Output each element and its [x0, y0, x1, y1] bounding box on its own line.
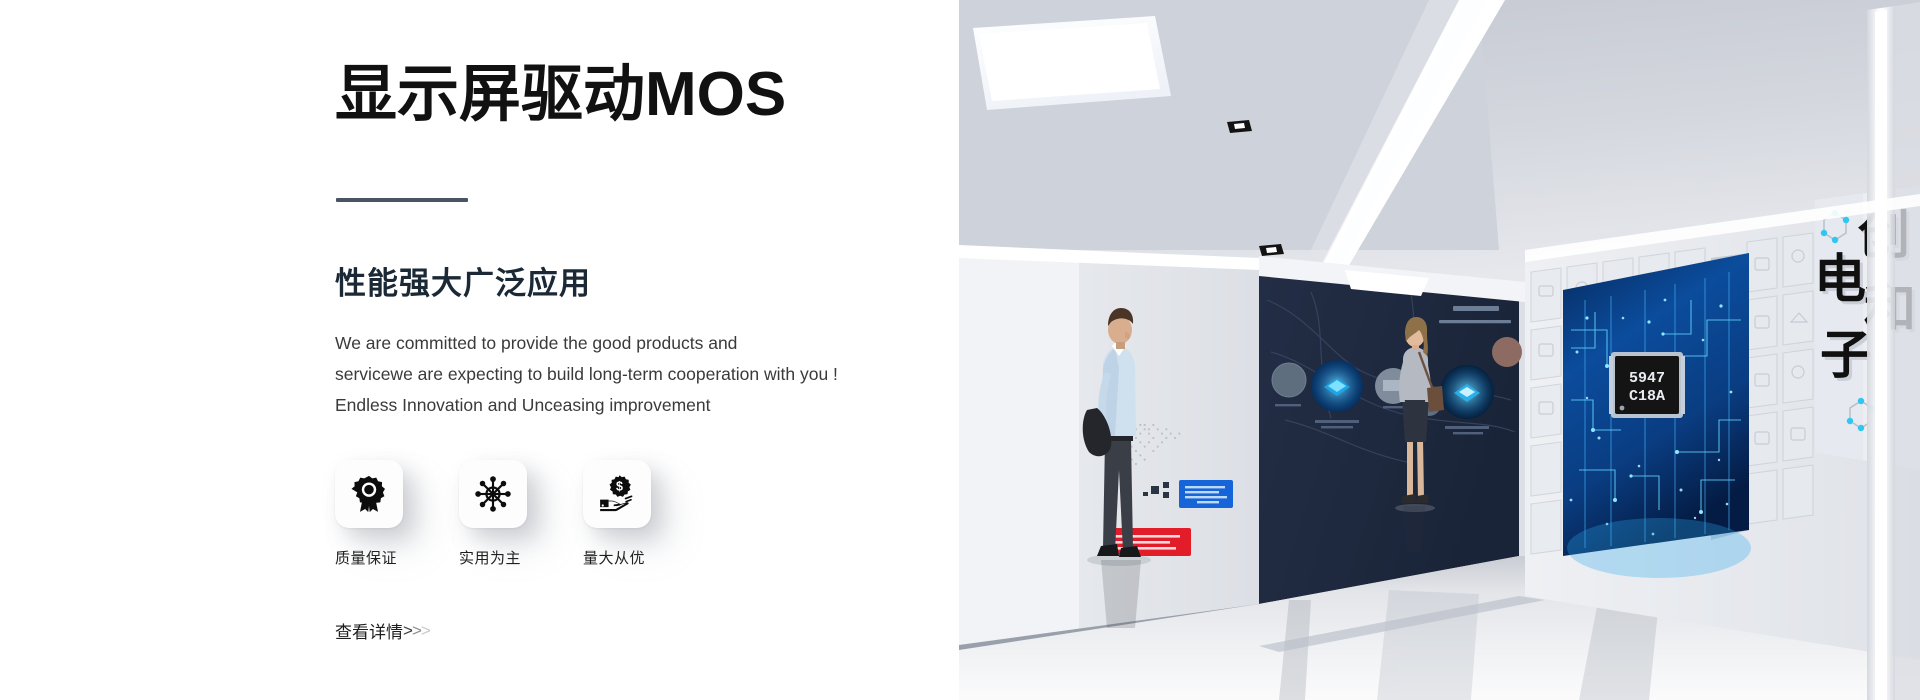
svg-text:$: $: [616, 480, 623, 494]
page-title: 显示屏驱动MOS: [335, 62, 786, 127]
title-divider: [336, 198, 468, 202]
left-text-panel: 显示屏驱动MOS 性能强大广泛应用 We are committed to pr…: [0, 0, 959, 700]
feature-badge-tile[interactable]: $: [583, 460, 651, 528]
chevron-right-icon: >: [403, 621, 412, 641]
screen-chip-line-2: C18A: [1629, 388, 1665, 405]
screen-chip-line-1: 5947: [1629, 370, 1665, 387]
feature-item-practical[interactable]: 实用为主: [459, 460, 527, 568]
feature-badge-list: 质量保证: [335, 460, 651, 568]
cta-label: 查看详情: [335, 618, 403, 643]
description-line: servicewe are expecting to build long-te…: [335, 359, 895, 390]
hero-description: We are committed to provide the good pro…: [335, 328, 895, 421]
feature-item-quality[interactable]: 质量保证: [335, 460, 403, 568]
feature-label: 质量保证: [335, 547, 403, 568]
showroom-photo: 5947 C18A: [959, 0, 1920, 700]
network-hub-icon: [473, 474, 513, 514]
wall-sign-char: 子: [1820, 327, 1872, 385]
chevron-right-icon: >: [412, 621, 421, 641]
hero-subtitle: 性能强大广泛应用: [335, 258, 591, 303]
wall-sign-char: 电: [1814, 251, 1866, 309]
hand-holding-money-icon: $: [597, 474, 637, 514]
hero-content: 显示屏驱动MOS 性能强大广泛应用 We are committed to pr…: [335, 0, 935, 700]
hero-banner: 显示屏驱动MOS 性能强大广泛应用 We are committed to pr…: [0, 0, 1920, 700]
description-line: We are committed to provide the good pro…: [335, 328, 895, 359]
feature-item-bulk-price[interactable]: $ 量大从优: [583, 460, 651, 568]
feature-label: 量大从优: [583, 547, 651, 568]
feature-label: 实用为主: [459, 547, 527, 568]
description-line: Endless Innovation and Unceasing improve…: [335, 390, 895, 421]
chevron-right-icon: >: [421, 621, 430, 641]
feature-badge-tile[interactable]: [335, 460, 403, 528]
view-details-link[interactable]: 查看详情>>>: [335, 618, 430, 643]
showroom-illustration: 5947 C18A: [959, 0, 1920, 700]
feature-badge-tile[interactable]: [459, 460, 527, 528]
award-ribbon-icon: [349, 474, 389, 514]
